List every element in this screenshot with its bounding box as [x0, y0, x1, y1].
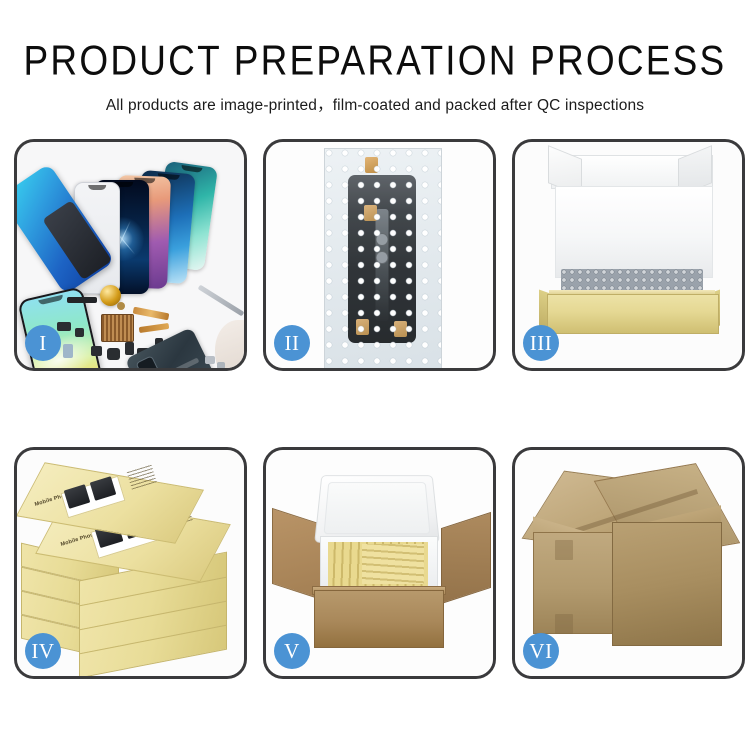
process-step-5[interactable]: V: [263, 447, 496, 679]
phone-notch-icon: [38, 295, 63, 305]
process-step-3[interactable]: III: [512, 139, 745, 371]
chip-grid-part: [101, 314, 134, 342]
foam-box-lid: [314, 475, 440, 543]
small-part: [107, 348, 120, 360]
carton-right-flap: [441, 512, 491, 604]
carton-front-face: [314, 590, 444, 648]
carton-left-face: [533, 532, 615, 634]
process-step-4[interactable]: Mobile Phone Spare Parts Mobile Phone Sp…: [14, 447, 247, 679]
page-header: PRODUCT PREPARATION PROCESS All products…: [0, 0, 750, 115]
step-badge-6: VI: [523, 633, 559, 669]
small-part: [91, 346, 102, 356]
white-foam-sheet: [555, 186, 713, 278]
process-step-grid: I II: [14, 139, 738, 679]
step-badge-5: V: [274, 633, 310, 669]
phone-notch-icon: [88, 185, 106, 190]
yellow-boxes-row: [362, 544, 424, 584]
step-badge-1: I: [25, 325, 61, 361]
page-subtitle: All products are image-printed，film-coat…: [0, 93, 750, 115]
process-step-1[interactable]: I: [14, 139, 247, 371]
small-part: [75, 328, 84, 337]
kraft-box-front: [547, 294, 719, 334]
carton-right-face: [612, 522, 722, 646]
small-part: [125, 342, 134, 355]
process-step-6[interactable]: VI: [512, 447, 745, 679]
foam-box-contents: [328, 542, 428, 586]
page-title: PRODUCT PREPARATION PROCESS: [0, 40, 750, 81]
battery-strip-part: [67, 297, 97, 303]
small-part: [117, 302, 125, 310]
bubble-wrap-bag: [324, 148, 442, 368]
camera-module-icon: [135, 355, 159, 368]
housing-detail: [161, 357, 199, 368]
small-part: [205, 356, 215, 364]
step-badge-4: IV: [25, 633, 61, 669]
foam-lid-inner: [324, 482, 431, 534]
bubble-texture: [325, 149, 441, 368]
small-part: [217, 362, 225, 368]
small-part: [57, 322, 71, 331]
carton-tab-mark: [555, 614, 573, 634]
process-step-2[interactable]: II: [263, 139, 496, 371]
step-badge-2: II: [274, 325, 310, 361]
carton-tab-mark: [555, 540, 573, 560]
step-badge-3: III: [523, 325, 559, 361]
small-part: [63, 344, 73, 358]
phone-notch-icon: [181, 165, 202, 173]
